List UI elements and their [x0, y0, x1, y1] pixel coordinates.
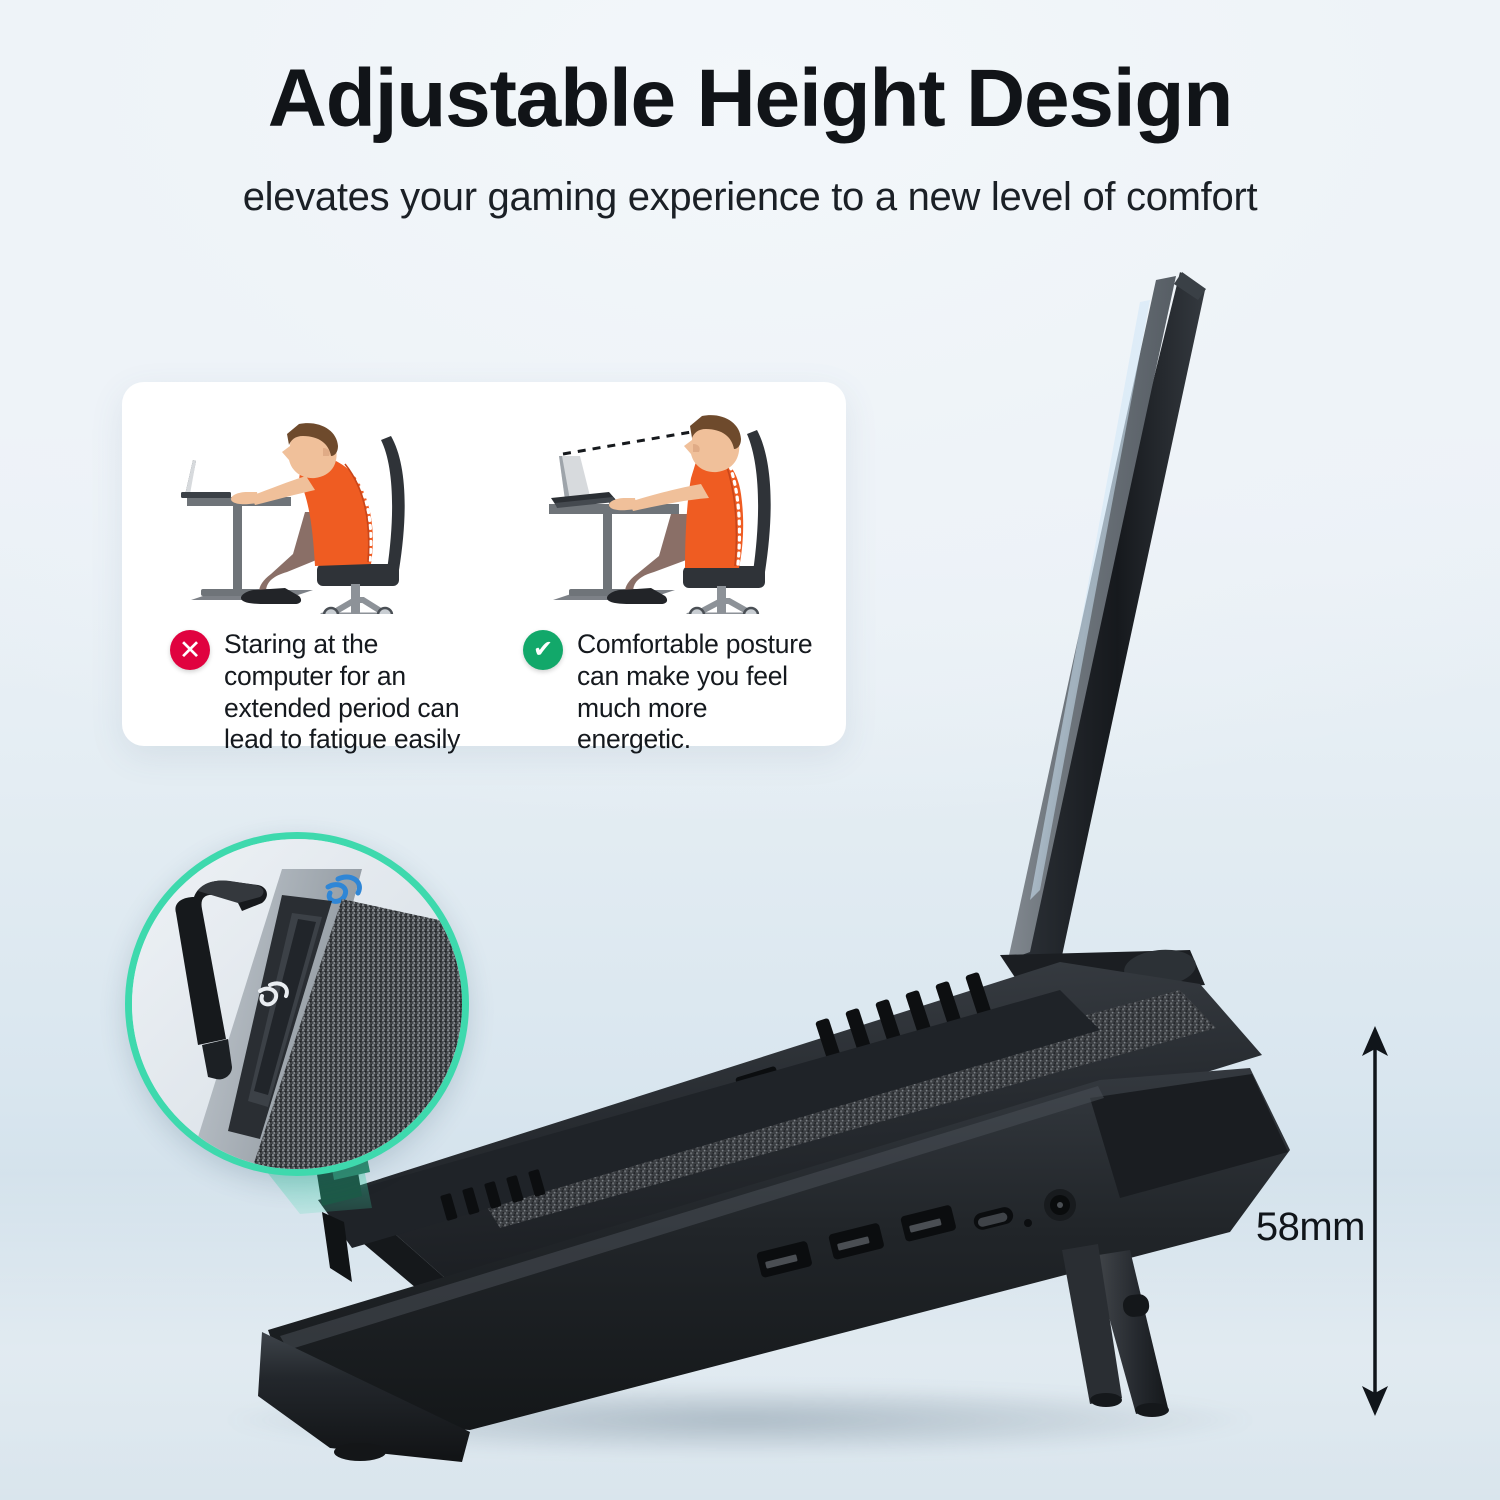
page-title: Adjustable Height Design	[0, 52, 1500, 146]
product-feature-banner: Adjustable Height Design elevates your g…	[0, 0, 1500, 1500]
check-mark-icon: ✔	[523, 630, 563, 670]
bad-posture-caption: ✕ Staring at the computer for an extende…	[122, 628, 493, 756]
good-posture-caption: ✔ Comfortable posture can make you feel …	[493, 628, 846, 756]
illustrations-row	[122, 394, 846, 614]
good-posture-illustration-wrap	[484, 394, 846, 614]
x-mark-icon: ✕	[170, 630, 210, 670]
good-posture-caption-text: Comfortable posture can make you feel mu…	[577, 628, 820, 756]
bad-posture-caption-text: Staring at the computer for an extended …	[224, 628, 467, 756]
person-slouching-at-desk-illustration	[163, 404, 443, 614]
page-subtitle: elevates your gaming experience to a new…	[0, 175, 1500, 220]
dimension-label: 58mm	[1255, 1205, 1365, 1250]
posture-comparison-card: ✕ Staring at the computer for an extende…	[122, 382, 846, 746]
bad-posture-illustration-wrap	[122, 394, 484, 614]
magnifier-circle-callout	[125, 832, 469, 1176]
product-floor-shadow	[230, 1385, 1250, 1455]
stopper-hook-and-foam-pad-detail	[132, 839, 462, 1169]
person-upright-with-laptop-stand-illustration	[525, 404, 805, 614]
captions-row: ✕ Staring at the computer for an extende…	[122, 628, 846, 756]
